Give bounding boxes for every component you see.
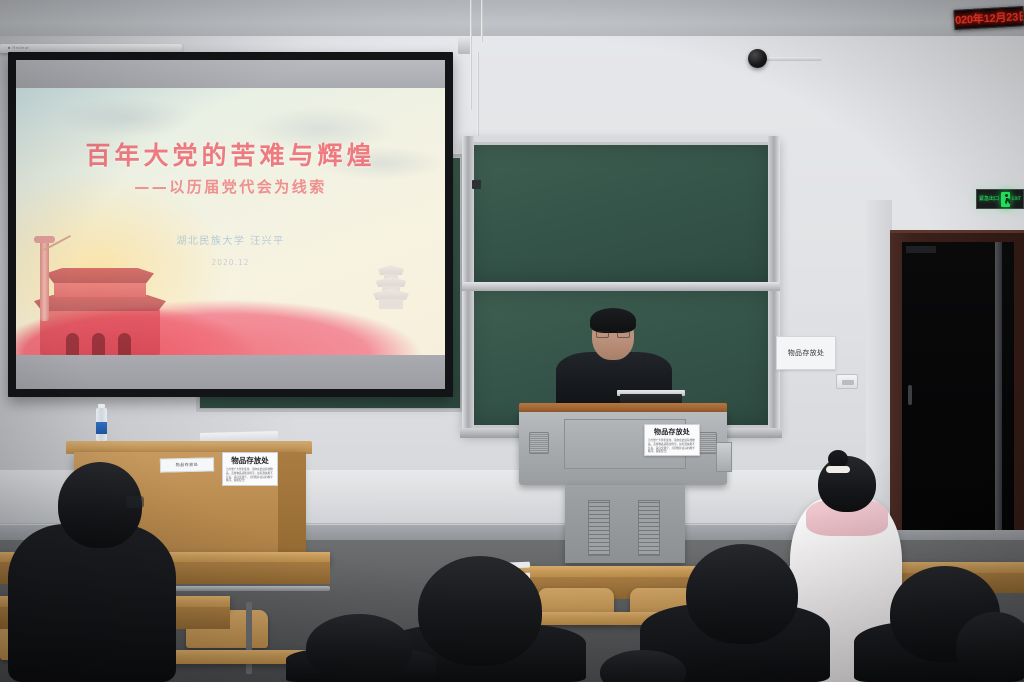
door-handle[interactable]: [908, 385, 912, 405]
slide-date: 2020.12: [16, 258, 445, 267]
exit-sign-chinese: 紧急出口: [979, 197, 999, 202]
desk-sign-body: 为方便广大师生使用，请勿在此处存放物品。贵重物品请随身携带，如有遗失概不负责。请…: [226, 468, 274, 483]
security-camera-icon: [748, 49, 767, 68]
water-bottle[interactable]: [96, 404, 107, 441]
slide-author: 湖北民族大学 汪兴平: [16, 232, 445, 247]
emergency-exit-sign: 紧急出口 EXIT: [976, 189, 1024, 209]
white-coat-head: [818, 456, 876, 512]
fg2-head: [306, 614, 412, 682]
slide-title: 百年大党的苦难与辉煌: [16, 136, 445, 172]
screen-mask-top: [16, 60, 445, 88]
speaker-glasses-icon: [596, 331, 630, 338]
podium-sign-title: 物品存放处: [654, 427, 690, 437]
desk-small-sign: 物品存放处: [160, 457, 214, 472]
bottle-label: [96, 422, 107, 434]
screen-mask-bottom: [16, 355, 445, 389]
slide-subtitle: ——以历届党代会为线索: [16, 176, 445, 197]
classroom-scene: ■ Redleaf 2020年12月23日: [0, 0, 1024, 682]
fg5-head: [956, 612, 1024, 682]
chalkboard-clip: [472, 180, 481, 189]
exit-sign-english: EXIT: [1012, 197, 1021, 201]
fg3-head: [686, 544, 798, 644]
podium-speaker-grille-left: [529, 432, 549, 454]
desk-sign-title: 物品存放处: [231, 455, 269, 466]
podium-storage-sign: 物品存放处 为方便广大师生使用，请勿在此处存放物品。贵重物品请随身携带，如有遗失…: [644, 424, 700, 456]
wall-socket[interactable]: [836, 374, 858, 389]
gate-arch-3: [118, 333, 131, 355]
wall-notice-sign: 物品存放处: [776, 336, 836, 370]
speaker-hair: [590, 308, 636, 333]
running-person-icon: [1001, 192, 1010, 207]
gate-upper-roof: [46, 268, 154, 283]
glasses-lens-right: [617, 331, 630, 338]
podium-vent-right: [638, 500, 660, 556]
podium-cable-box: [716, 442, 732, 472]
desk-small-sign-text: 物品存放处: [176, 462, 199, 468]
camera-arm: [764, 57, 822, 61]
wall-notice-text: 物品存放处: [788, 348, 825, 358]
rail-brand-mark: ■ Redleaf: [8, 45, 29, 50]
gate-lower-roof: [34, 295, 166, 311]
podium-lower-cabinet: [565, 485, 685, 563]
podium-vent-left: [588, 500, 610, 556]
podium-speaker-grille-right: [697, 432, 717, 454]
led-date-text: 2020年12月23日: [953, 8, 1024, 28]
audience-left-glasses-icon: [126, 496, 144, 508]
toh-base: [379, 299, 403, 309]
gate-middle-tier: [54, 281, 146, 297]
door-top-plate: [906, 246, 936, 253]
gate-arch-2: [92, 333, 105, 355]
chalkboard-upper-panel: [468, 142, 774, 286]
led-date-sign: 2020年12月23日: [953, 6, 1024, 30]
tiananmen-illustration: [26, 230, 176, 355]
ceiling-cable-b: [481, 0, 483, 42]
glasses-lens-left: [596, 331, 609, 338]
ceiling-cable-a: [470, 0, 472, 110]
desk-storage-sign: 物品存放处 为方便广大师生使用，请勿在此处存放物品。贵重物品请随身携带，如有遗失…: [222, 452, 278, 486]
temple-of-heaven-illustration: [373, 265, 409, 309]
fg1-head: [418, 556, 542, 666]
chalkboard-rail-middle: [462, 282, 780, 291]
podium-sign-body: 为方便广大师生使用，请勿在此处存放物品。贵重物品请随身携带，如有遗失概不负责。请…: [648, 439, 696, 454]
presentation-slide: 百年大党的苦难与辉煌 ——以历届党代会为线索 湖北民族大学 汪兴平 2020.1…: [16, 88, 445, 355]
gate-arch-1: [66, 333, 79, 355]
door-jamb: [995, 242, 1002, 530]
hair-tie: [826, 466, 850, 473]
slide-cloud-3: [56, 98, 196, 138]
